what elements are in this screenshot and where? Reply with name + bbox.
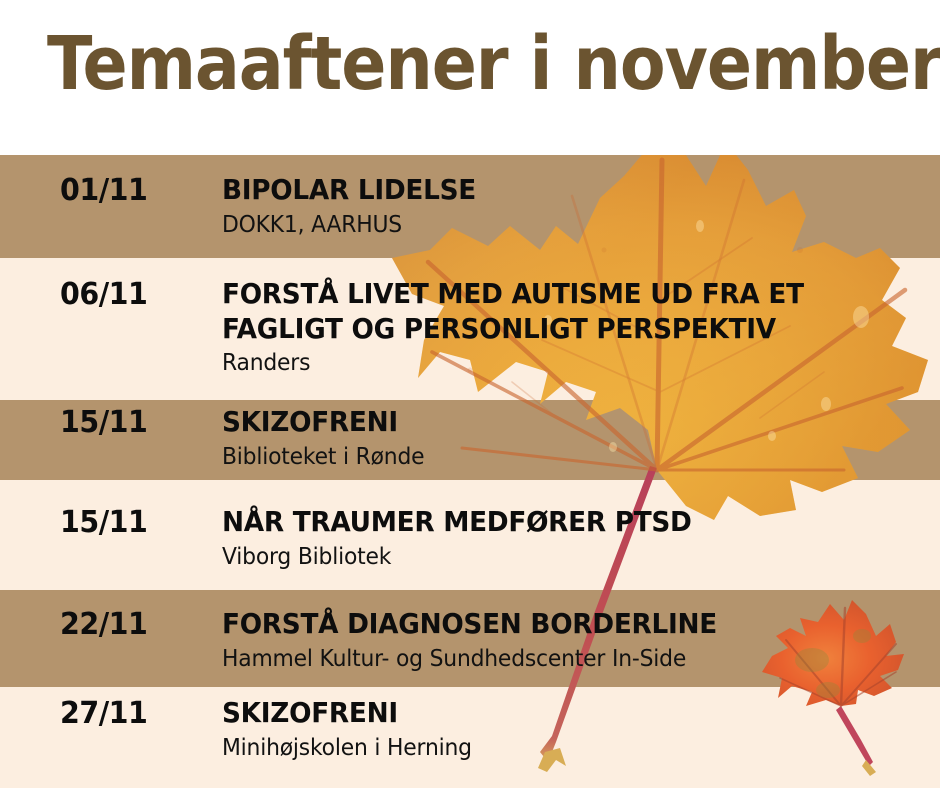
event-date: 01/11 [60, 173, 203, 208]
event-date: 27/11 [60, 696, 203, 731]
event-title: SKIZOFRENI [222, 405, 889, 440]
event-venue: Biblioteket i Rønde [222, 443, 897, 472]
event-title: SKIZOFRENI [222, 696, 889, 731]
event-body: FORSTÅ DIAGNOSEN BORDERLINE Hammel Kultu… [222, 607, 932, 673]
event-date: 06/11 [60, 277, 203, 312]
event-body: SKIZOFRENI Minihøjskolen i Herning [222, 696, 932, 762]
poster-canvas: Temaaftener i november 01/11 BIPOLAR LID… [0, 0, 940, 788]
event-date: 15/11 [60, 505, 203, 540]
event-venue: DOKK1, AARHUS [222, 211, 897, 240]
event-venue: Minihøjskolen i Herning [222, 734, 897, 763]
event-body: NÅR TRAUMER MEDFØRER PTSD Viborg Bibliot… [222, 505, 932, 571]
page-title: Temaaftener i november [47, 26, 940, 104]
header-bar: Temaaftener i november [0, 0, 940, 155]
event-venue: Hammel Kultur- og Sundhedscenter In-Side [222, 645, 897, 674]
event-body: BIPOLAR LIDELSE DOKK1, AARHUS [222, 173, 932, 239]
event-title: BIPOLAR LIDELSE [222, 173, 889, 208]
event-date: 15/11 [60, 405, 203, 440]
event-title: FORSTÅ DIAGNOSEN BORDERLINE [222, 607, 889, 642]
event-venue: Viborg Bibliotek [222, 543, 897, 572]
event-venue: Randers [222, 349, 897, 378]
event-date: 22/11 [60, 607, 203, 642]
event-body: SKIZOFRENI Biblioteket i Rønde [222, 405, 932, 471]
event-title: NÅR TRAUMER MEDFØRER PTSD [222, 505, 889, 540]
event-title: FORSTÅ LIVET MED AUTISME UD FRA ET FAGLI… [222, 277, 889, 346]
event-body: FORSTÅ LIVET MED AUTISME UD FRA ET FAGLI… [222, 277, 932, 378]
